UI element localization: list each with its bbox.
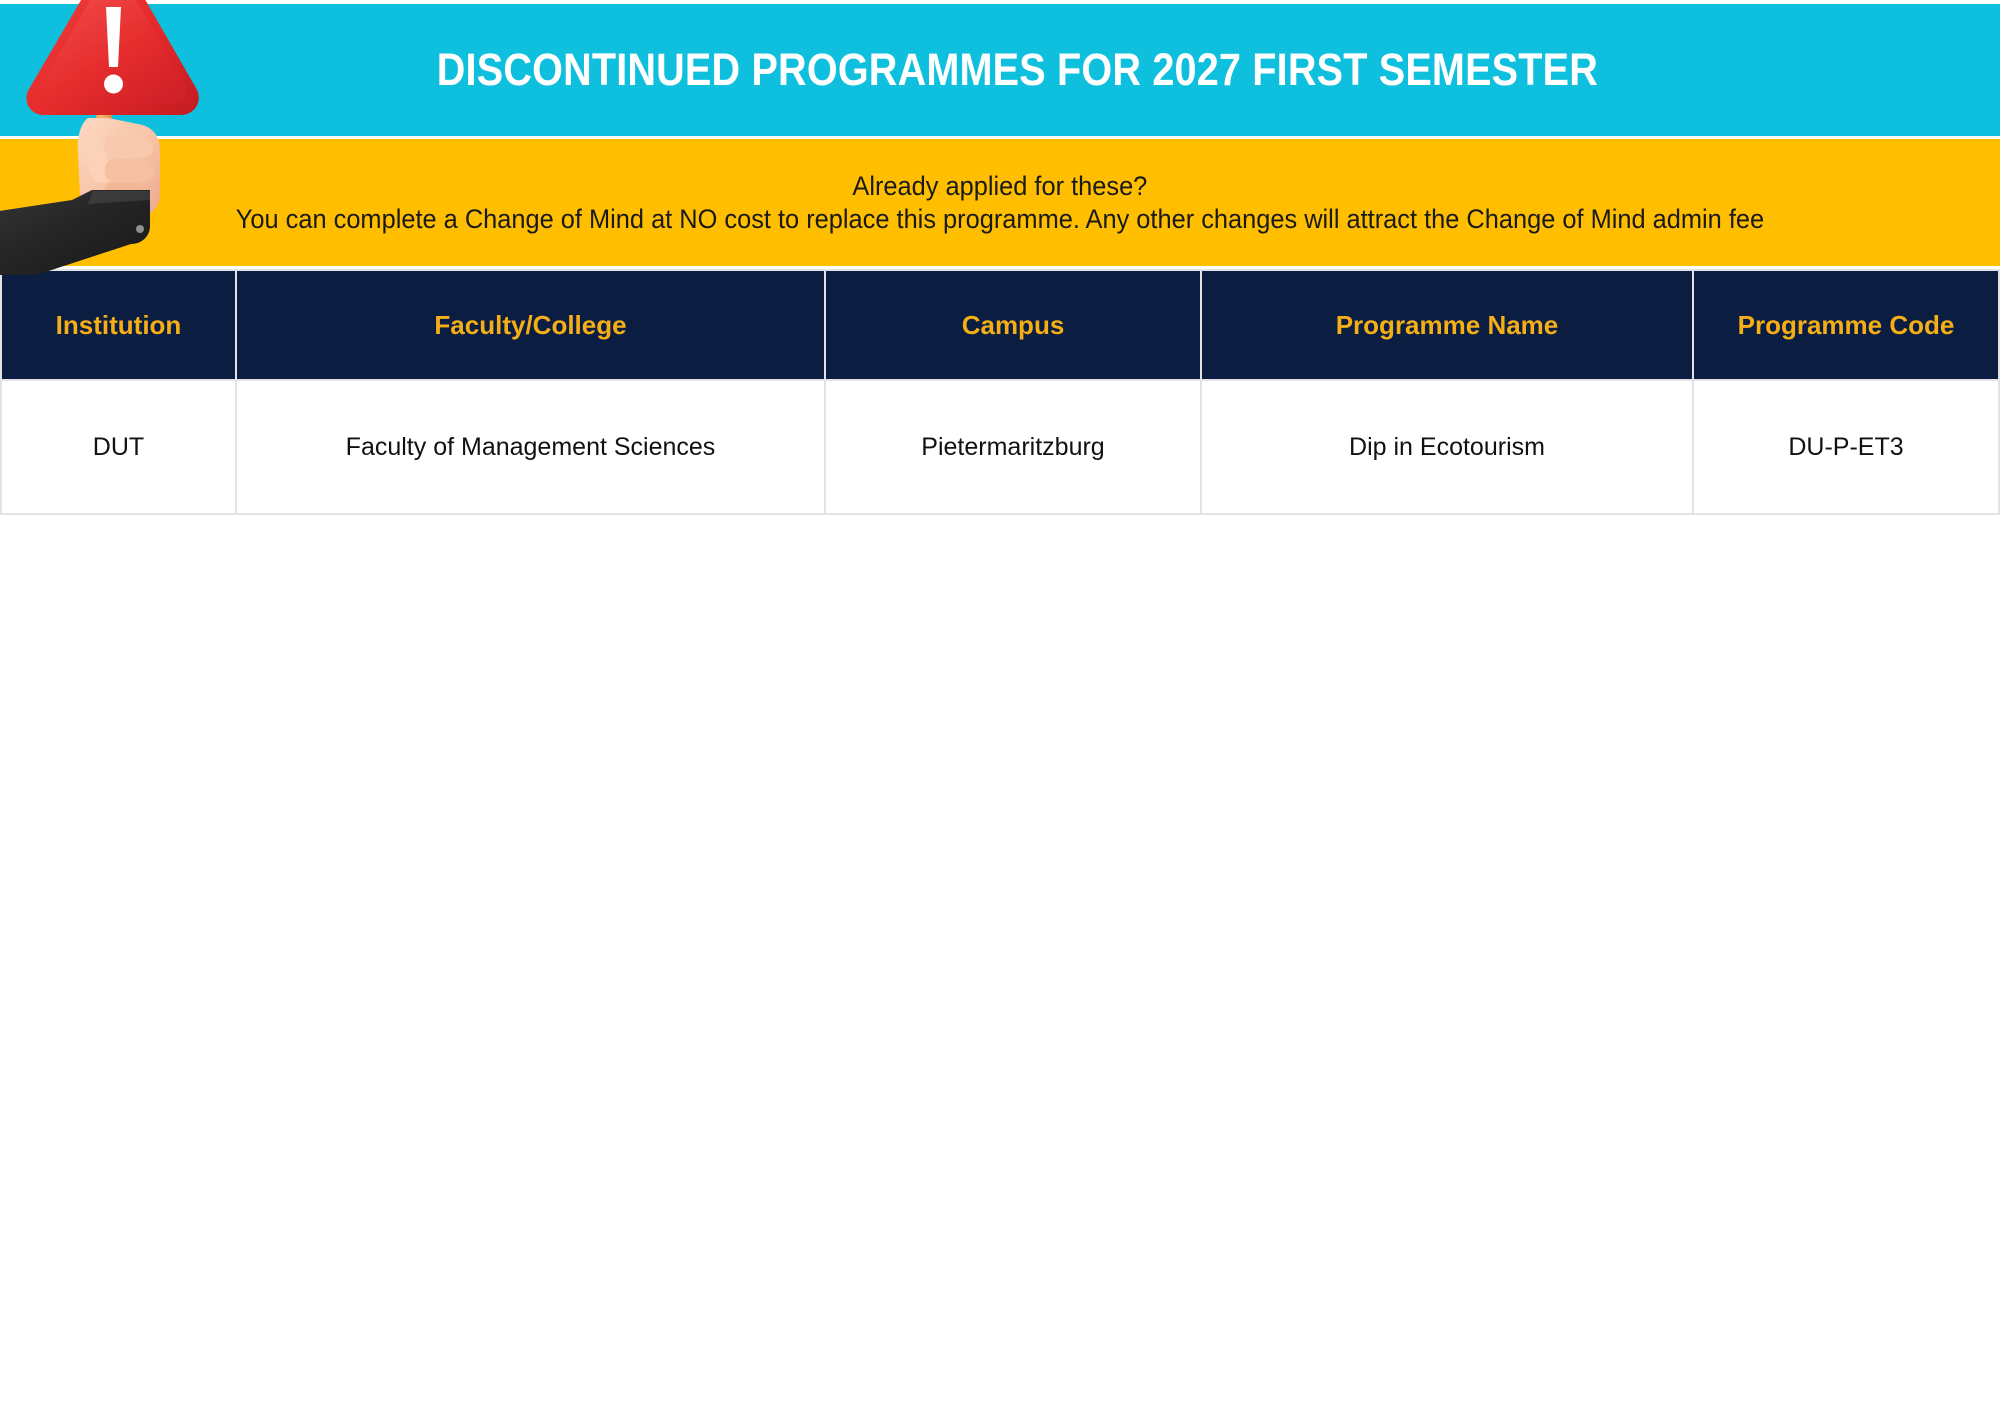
notice-banner: Already applied for these? You can compl… (0, 139, 2000, 266)
cell-institution: DUT (1, 380, 236, 514)
column-header-institution[interactable]: Institution (1, 270, 236, 380)
discontinued-programmes-table: Institution Faculty/College Campus Progr… (0, 269, 2000, 515)
table-header-row: Institution Faculty/College Campus Progr… (1, 270, 1999, 380)
cell-campus: Pietermaritzburg (825, 380, 1201, 514)
cell-faculty: Faculty of Management Sciences (236, 380, 825, 514)
discontinued-programmes-page: DISCONTINUED PROGRAMMES FOR 2027 FIRST S… (0, 0, 2000, 1414)
page-title: DISCONTINUED PROGRAMMES FOR 2027 FIRST S… (402, 44, 1598, 96)
column-header-programme-name[interactable]: Programme Name (1201, 270, 1693, 380)
notice-question: Already applied for these? (853, 171, 1148, 202)
column-header-campus[interactable]: Campus (825, 270, 1201, 380)
column-header-programme-code[interactable]: Programme Code (1693, 270, 1999, 380)
notice-detail: You can complete a Change of Mind at NO … (236, 204, 1764, 235)
cell-programme-code: DU-P-ET3 (1693, 380, 1999, 514)
cell-programme-name: Dip in Ecotourism (1201, 380, 1693, 514)
column-header-faculty-college[interactable]: Faculty/College (236, 270, 825, 380)
table-row: DUT Faculty of Management Sciences Piete… (1, 380, 1999, 514)
page-header-bar: DISCONTINUED PROGRAMMES FOR 2027 FIRST S… (0, 4, 2000, 136)
